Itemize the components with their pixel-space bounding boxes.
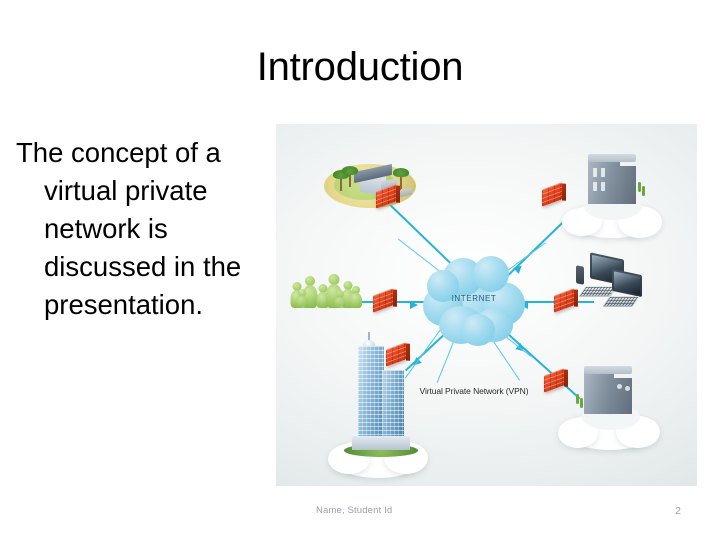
office-building-bottom-node	[558, 354, 664, 454]
users-group-node	[288, 264, 362, 308]
body-paragraph: The concept of a virtual private network…	[44, 134, 296, 324]
arrow-people	[410, 301, 418, 309]
vpn-network-diagram-image: INTERNET Virtual Private Network (VPN)	[276, 124, 697, 486]
internet-cloud-icon: INTERNET	[419, 252, 529, 350]
office-building-top-node	[562, 146, 664, 242]
home-island-node	[324, 158, 416, 212]
body-text-block: The concept of a virtual private network…	[16, 134, 296, 324]
firewall-icon-office-top	[542, 182, 562, 206]
firewall-icon-people	[373, 288, 393, 312]
firewall-icon-computers	[554, 288, 574, 312]
footer-page-number: 2	[668, 505, 688, 517]
internet-label: INTERNET	[419, 294, 529, 303]
presentation-slide: Introduction The concept of a virtual pr…	[0, 0, 720, 540]
headquarters-tower-node	[332, 332, 424, 462]
footer-author: Name, Student Id	[316, 505, 392, 516]
workstation-node	[572, 256, 656, 318]
page-title: Introduction	[0, 43, 720, 91]
